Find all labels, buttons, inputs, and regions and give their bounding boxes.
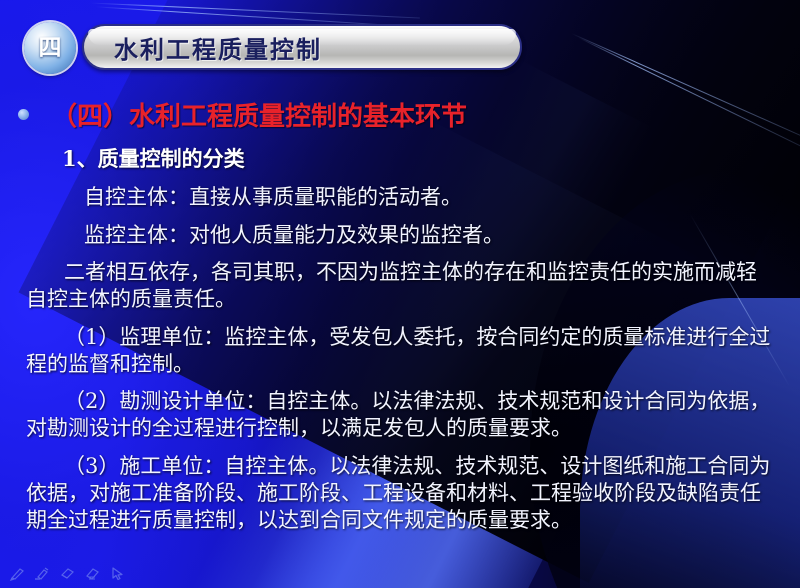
highlighter-icon[interactable] — [33, 565, 52, 582]
section-number-badge: 四 — [24, 22, 76, 74]
slide-body: （四）水利工程质量控制的基本环节 1、质量控制的分类 自控主体：直接从事质量职能… — [0, 96, 800, 535]
bullet-dot-icon — [18, 109, 29, 120]
slide-title: 水利工程质量控制 — [114, 30, 322, 65]
pen-icon[interactable] — [8, 565, 27, 582]
slide-header: 水利工程质量控制 四 — [24, 22, 524, 74]
paragraph-interdependence: 二者相互依存，各司其职，不因为监控主体的存在和监控责任的实施而减轻自控主体的质量… — [26, 259, 774, 314]
section-number-label: 四 — [39, 37, 62, 60]
section-heading-row: （四）水利工程质量控制的基本环节 — [0, 96, 800, 133]
presentation-toolbar[interactable] — [8, 565, 127, 582]
definition-supervision: 监控主体：对他人质量能力及效果的监控者。 — [84, 219, 800, 249]
ink-options-icon[interactable] — [83, 565, 102, 582]
paragraph-item-1-supervision-unit: （1）监理单位：监控主体，受发包人委托，按合同约定的质量标准进行全过程的监督和控… — [26, 324, 774, 379]
presentation-slide: 水利工程质量控制 四 （四）水利工程质量控制的基本环节 1、质量控制的分类 自控… — [0, 0, 800, 588]
pointer-icon[interactable] — [108, 565, 127, 582]
definition-self-control: 自控主体：直接从事质量职能的活动者。 — [84, 181, 800, 211]
eraser-icon[interactable] — [58, 565, 77, 582]
paragraph-item-3-construction-unit: （3）施工单位：自控主体。以法律法规、技术规范、设计图纸和施工合同为依据，对施工… — [26, 453, 774, 535]
section-heading: （四）水利工程质量控制的基本环节 — [51, 96, 467, 133]
background-hairline-1 — [90, 3, 420, 19]
paragraph-item-2-survey-design-unit: （2）勘测设计单位：自控主体。以法律法规、技术规范和设计合同为依据，对勘测设计的… — [26, 388, 774, 443]
subsection-heading: 1、质量控制的分类 — [62, 143, 800, 173]
title-pill: 水利工程质量控制 — [82, 24, 522, 70]
